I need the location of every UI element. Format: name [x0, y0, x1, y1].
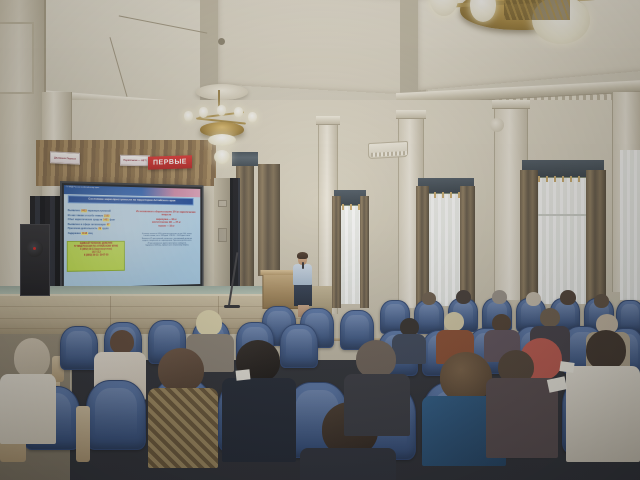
microphone-stand-base [224, 305, 240, 308]
audience-badge [236, 369, 251, 380]
stage-side-drape-valance [232, 152, 258, 166]
audience-head [196, 310, 222, 336]
audience-head [560, 290, 576, 305]
stage-loudspeaker [20, 224, 50, 296]
audience-body [344, 374, 410, 436]
audience-head [594, 294, 609, 308]
banner-mid-white: Наркотикам — НЕТ! [120, 155, 150, 167]
screen-mount-plate-2 [218, 228, 227, 242]
audience-head [14, 338, 50, 378]
slide-left-column: Выявлено 2413 наркопреступлений Из них т… [68, 209, 131, 236]
window-back-4 [620, 150, 640, 300]
wall-ornament-panel [0, 22, 34, 94]
window-back-3 [532, 170, 592, 304]
presentation-slide: ГУ МВД России по Алтайскому краю Состоян… [64, 185, 200, 288]
audience-head [356, 340, 396, 378]
audience-head [526, 292, 541, 306]
handheld-microphone-icon [302, 262, 304, 269]
audience-head [440, 352, 492, 402]
slide-stat-row: Пресечена деятельность 29 групп [68, 227, 131, 230]
audience-head [158, 348, 204, 392]
air-conditioner-icon [368, 141, 408, 159]
slide-stat-row: Задержано 1118 лиц [68, 232, 131, 235]
window-back-1 [338, 196, 362, 304]
window-drape-1-right [360, 196, 369, 308]
banner-left-white: Движение Первых [50, 151, 80, 165]
slide-fine-print: В рамках выявлено 2413 наркопреступления… [133, 233, 200, 247]
screen-mount-plate [218, 200, 227, 207]
window-drape-1-left [332, 196, 341, 308]
ceiling-anchor [218, 38, 225, 45]
wall-medallion [490, 118, 504, 132]
banner-center-red: ПЕРВЫЕ [148, 155, 192, 170]
slide-stat-row: Выявлено 2413 наркопреступлений [68, 209, 131, 213]
presenter-skirt [294, 284, 312, 306]
audience-head [540, 308, 560, 327]
conference-hall-photo: Движение Первых Наркотикам — НЕТ! ПЕРВЫЕ… [0, 0, 640, 480]
audience-shawl [0, 374, 56, 444]
audience-head [586, 330, 626, 370]
audience-body [566, 366, 640, 462]
audience-head [110, 330, 134, 354]
wall-pier-cap-1 [316, 116, 340, 125]
audience-body [148, 388, 218, 468]
seat[interactable] [60, 326, 98, 370]
ceiling-panel-center [218, 0, 428, 96]
window-drape-3-left [520, 170, 538, 310]
audience-body [486, 378, 558, 458]
projection-screen[interactable]: ГУ МВД России по Алтайскому краю Состоян… [60, 181, 204, 292]
audience-head [492, 290, 507, 304]
window-drape-3-right [586, 170, 606, 310]
slide-stat-row: Выявлено в сфере легализации 47 [68, 223, 131, 226]
seat[interactable] [280, 324, 318, 368]
banner-mid-white-label: Наркотикам — НЕТ! [123, 159, 146, 162]
slide-hotline-box: ЕДИНЫЙ ТЕЛЕФОН ДОВЕРИЯ ГУ МВД РОССИИ ПО … [67, 241, 125, 272]
banner-center-red-label: ПЕРВЫЕ [153, 158, 187, 166]
audience-paper [559, 361, 574, 373]
slide-stat-row: Сбыт наркотических средств 1421 факт [68, 218, 131, 222]
audience-body [392, 334, 426, 364]
wall-pier-cap-3 [492, 100, 530, 109]
audience-head [456, 290, 471, 304]
audience-body [222, 378, 296, 462]
seat[interactable] [86, 380, 146, 450]
banner-left-white-label: Движение Первых [54, 156, 76, 160]
slide-stat-row: Из них тяжких и особо тяжких 2152 [68, 214, 131, 218]
audience-head [444, 312, 464, 331]
wall-pier-cap-2 [396, 110, 426, 119]
seat-armrest [76, 406, 90, 462]
loudspeaker-led-icon [33, 247, 36, 250]
stage-side-drape-right-2 [258, 164, 280, 276]
audience-body [300, 448, 396, 480]
slide-title: Состояние наркопреступности на территори… [68, 195, 194, 205]
ceiling-rose [196, 84, 248, 100]
slide-right-column: Из незаконного оборота изъято 374 кг нар… [135, 210, 197, 227]
audience-head [422, 292, 436, 305]
presenter-hair [297, 252, 308, 259]
